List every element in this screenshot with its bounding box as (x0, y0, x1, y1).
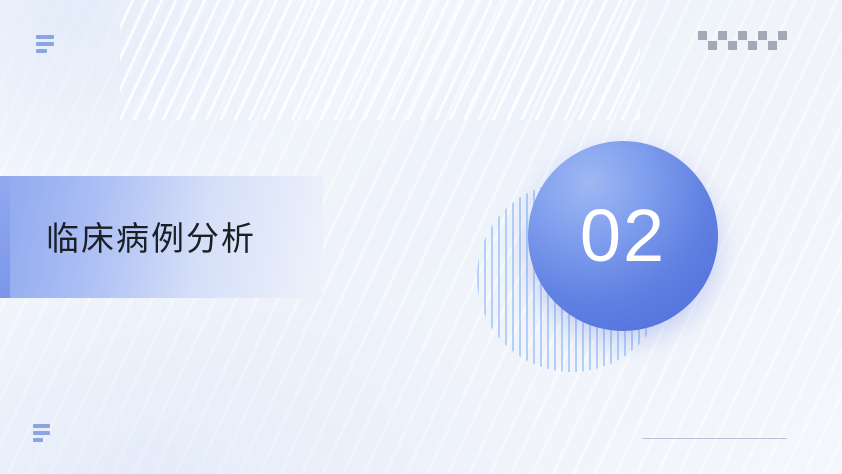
menu-bars-icon-bottom-left (33, 424, 50, 442)
section-number: 02 (528, 141, 718, 331)
menu-bar-line (33, 424, 50, 428)
checkerboard-pattern-icon (698, 31, 787, 50)
menu-bar-line (36, 49, 47, 53)
slide-title: 临床病例分析 (46, 212, 256, 260)
checker-cell (718, 41, 727, 50)
checker-cell (698, 41, 707, 50)
checker-cell (778, 31, 787, 40)
checker-cell (708, 31, 717, 40)
checker-cell (698, 31, 707, 40)
title-band-accent-edge (0, 176, 10, 298)
checker-cell (728, 31, 737, 40)
checker-cell (768, 41, 777, 50)
checker-cell (758, 31, 767, 40)
checker-cell (738, 31, 747, 40)
section-number-sphere: 02 (528, 141, 718, 331)
menu-bar-line (33, 431, 50, 435)
checker-cell (748, 31, 757, 40)
checker-cell (718, 31, 727, 40)
slide-canvas: 临床病例分析 02 (0, 0, 842, 474)
checker-cell (728, 41, 737, 50)
menu-bar-line (36, 35, 54, 39)
checker-cell (738, 41, 747, 50)
checker-cell (708, 41, 717, 50)
menu-bar-line (33, 438, 43, 442)
menu-bar-line (36, 42, 54, 46)
checker-cell (758, 41, 767, 50)
top-diagonal-stripe-band (120, 0, 640, 120)
checker-cell (778, 41, 787, 50)
checker-cell (768, 31, 777, 40)
menu-bars-icon-top-left (36, 35, 54, 53)
checker-cell (748, 41, 757, 50)
bottom-horizontal-rule (642, 438, 787, 439)
